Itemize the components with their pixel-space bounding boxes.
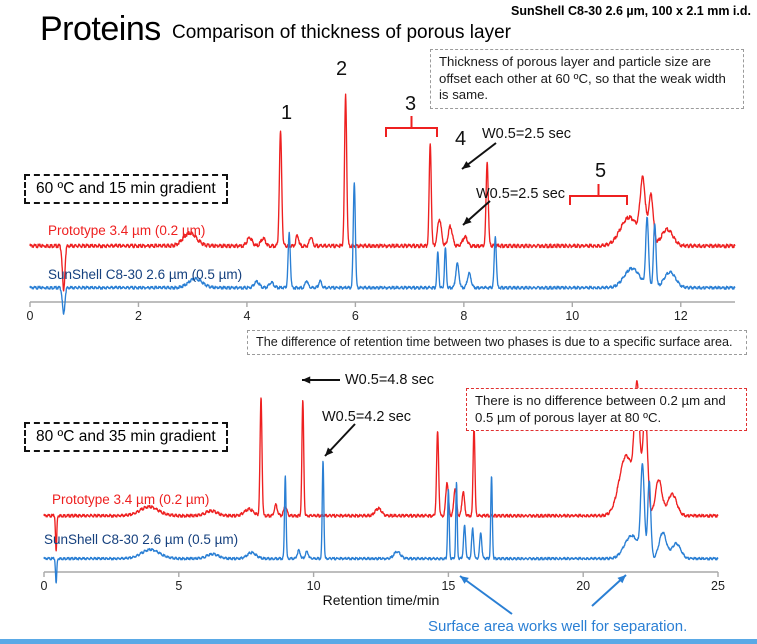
arrow-footer-left <box>460 576 512 614</box>
arrow-w05-bottom-red <box>302 376 340 383</box>
arrow-w05-top-blue <box>463 201 490 225</box>
arrow-w05-top-red <box>462 143 496 169</box>
bracket-peak-3 <box>386 128 437 137</box>
arrow-footer-right <box>592 575 626 606</box>
slide-canvas: Proteins Comparison of thickness of poro… <box>0 0 757 644</box>
bracket-peak-5 <box>570 196 627 205</box>
arrow-w05-bottom-blue <box>325 424 355 456</box>
annotation-overlay <box>0 0 757 644</box>
